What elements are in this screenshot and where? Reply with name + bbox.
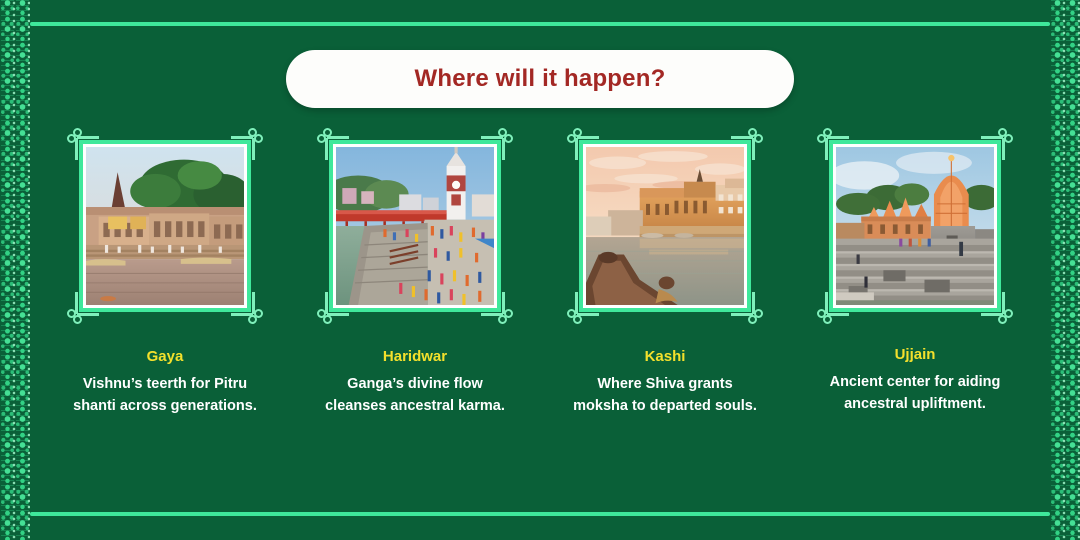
page-title: Where will it happen? bbox=[415, 65, 666, 93]
bottom-divider-rule bbox=[30, 512, 1050, 516]
dot-column bbox=[27, 0, 30, 540]
frame-corner-bracket-icon bbox=[229, 290, 263, 324]
card-description: Where Shiva grants moksha to departed so… bbox=[573, 374, 758, 418]
frame-corner-bracket-icon bbox=[817, 290, 851, 324]
photo-frame bbox=[315, 126, 515, 326]
right-ornamental-border bbox=[1050, 0, 1080, 540]
frame-corner-bracket-icon bbox=[567, 290, 601, 324]
haridwar-photo bbox=[336, 147, 494, 305]
destination-card: Kashi Where Shiva grants moksha to depar… bbox=[560, 126, 770, 418]
photo-frame bbox=[565, 126, 765, 326]
frame-corner-bracket-icon bbox=[979, 128, 1013, 162]
page-title-pill: Where will it happen? bbox=[286, 50, 794, 108]
top-divider-rule bbox=[30, 22, 1050, 26]
card-description: Vishnu’s teerth for Pitru shanti across … bbox=[70, 374, 260, 418]
gaya-photo-art bbox=[86, 147, 244, 305]
ujjain-photo-art bbox=[836, 147, 994, 305]
left-ornamental-border bbox=[0, 0, 30, 540]
frame-corner-bracket-icon bbox=[317, 128, 351, 162]
frame-corner-bracket-icon bbox=[979, 290, 1013, 324]
frame-corner-bracket-icon bbox=[67, 128, 101, 162]
frame-corner-bracket-icon bbox=[817, 128, 851, 162]
card-description: Ganga’s divine flow cleanses ancestral k… bbox=[323, 374, 508, 418]
frame-corner-bracket-icon bbox=[229, 128, 263, 162]
kashi-photo bbox=[586, 147, 744, 305]
frame-corner-bracket-icon bbox=[479, 128, 513, 162]
destination-card: Haridwar Ganga’s divine flow cleanses an… bbox=[310, 126, 520, 418]
photo-mat bbox=[829, 140, 1001, 312]
gaya-photo bbox=[86, 147, 244, 305]
frame-corner-bracket-icon bbox=[317, 290, 351, 324]
frame-corner-bracket-icon bbox=[567, 128, 601, 162]
card-title: Ujjain bbox=[895, 346, 936, 363]
destination-card: Ujjain Ancient center for aiding ancestr… bbox=[810, 126, 1020, 418]
photo-frame bbox=[65, 126, 265, 326]
destination-card-list: Gaya Vishnu’s teerth for Pitru shanti ac… bbox=[60, 126, 1020, 418]
photo-mat bbox=[79, 140, 251, 312]
card-title: Haridwar bbox=[383, 348, 447, 365]
photo-mat bbox=[579, 140, 751, 312]
card-description: Ancient center for aiding ancestral upli… bbox=[823, 372, 1008, 416]
card-title: Kashi bbox=[645, 348, 686, 365]
card-title: Gaya bbox=[147, 348, 184, 365]
kashi-photo-art bbox=[586, 147, 744, 305]
frame-corner-bracket-icon bbox=[729, 128, 763, 162]
frame-corner-bracket-icon bbox=[729, 290, 763, 324]
photo-mat bbox=[329, 140, 501, 312]
photo-frame bbox=[815, 126, 1015, 326]
ujjain-photo bbox=[836, 147, 994, 305]
frame-corner-bracket-icon bbox=[67, 290, 101, 324]
haridwar-photo-art bbox=[336, 147, 494, 305]
frame-corner-bracket-icon bbox=[479, 290, 513, 324]
destination-card: Gaya Vishnu’s teerth for Pitru shanti ac… bbox=[60, 126, 270, 418]
